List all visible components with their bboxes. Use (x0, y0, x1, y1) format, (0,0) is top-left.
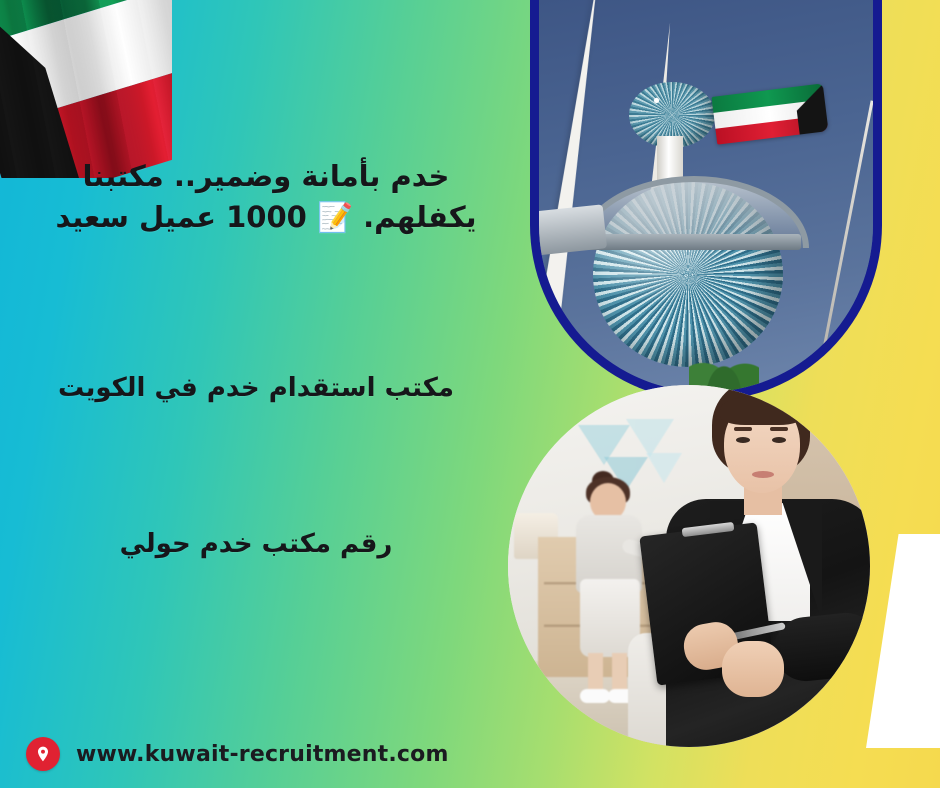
website-url[interactable]: www.kuwait-recruitment.com (76, 742, 449, 767)
woman-lips (752, 471, 774, 478)
flag-fabric-sheen (0, 0, 172, 178)
footer-bar: www.kuwait-recruitment.com (26, 732, 449, 776)
heading-phone-title: رقم مكتب خدم حولي (36, 527, 476, 562)
woman-eyebrow (770, 427, 788, 431)
maid-leg (588, 653, 603, 693)
white-corner-block (866, 534, 940, 748)
jacket-lapel-right (782, 501, 822, 621)
kuwait-flag-corner (0, 0, 172, 178)
woman-eye (772, 437, 786, 443)
poster-canvas: خدم بأمانة وضمير.. مكتبنا يكفلهم. 📝 1000… (0, 0, 940, 788)
flag-black-hoist (0, 0, 155, 178)
tower-side-ledge (539, 204, 607, 255)
recruitment-agent-photo (508, 385, 870, 747)
woman-eye (736, 437, 750, 443)
kuwait-towers-frame (530, 0, 882, 401)
flag-band-green (0, 0, 172, 50)
flag-band-white (0, 0, 172, 129)
businesswoman-with-clipboard (626, 385, 870, 747)
woman-eyebrow (734, 427, 752, 431)
maid-leg (612, 653, 627, 693)
woman-fringe (720, 395, 804, 425)
woman-hand (722, 641, 784, 697)
heading-service-title: مكتب استقدام خدم في الكويت (36, 371, 476, 406)
headline-text: خدم بأمانة وضمير.. مكتبنا يكفلهم. 📝 1000… (36, 156, 496, 238)
palm-tree (689, 336, 759, 392)
kuwait-towers-photo (539, 0, 873, 392)
location-pin-icon (26, 737, 60, 771)
maid-shoe (580, 689, 610, 703)
tower-observation-deck (575, 234, 801, 250)
